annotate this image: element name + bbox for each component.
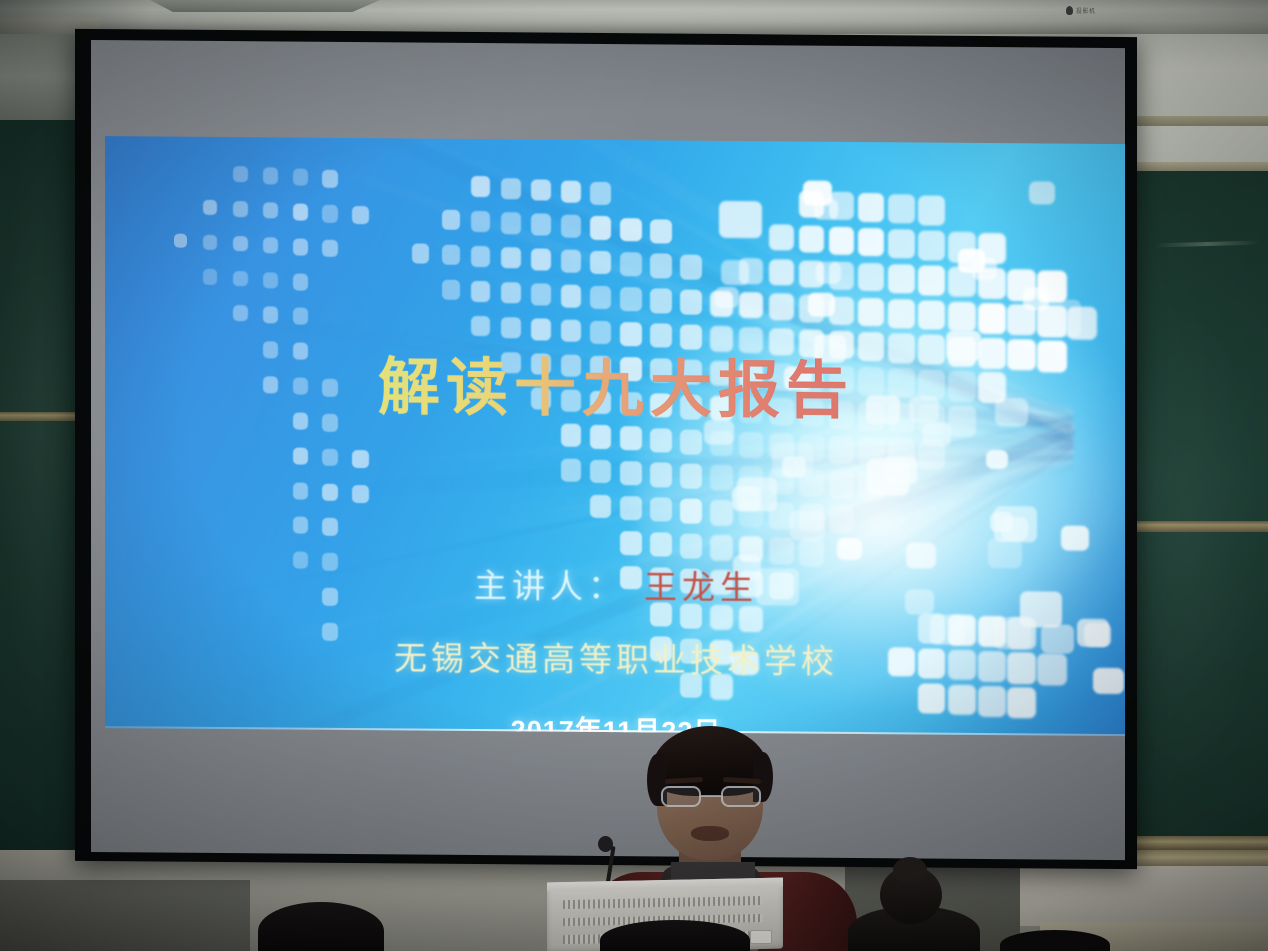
chalkboard-right bbox=[1135, 171, 1268, 851]
chalk-ledge-left bbox=[0, 412, 80, 421]
lower-wall-trim bbox=[1115, 850, 1268, 866]
audience-hair-bun bbox=[893, 857, 927, 883]
lecture-hall-scene: 投影机 解读十九大报告 主讲人：王龙生 bbox=[0, 0, 1268, 951]
lower-wall-left-shadow bbox=[0, 880, 250, 951]
chalk-ledge-right-lower bbox=[1135, 836, 1268, 850]
slide-speaker-label: 主讲人： bbox=[474, 569, 626, 606]
glasses-lens-left bbox=[661, 786, 701, 807]
chalkboard-left bbox=[0, 120, 80, 880]
ceiling-label-text: 投影机 bbox=[1076, 6, 1096, 15]
slide-speaker-name: 王龙生 bbox=[644, 570, 758, 607]
glasses-icon bbox=[661, 786, 761, 807]
glasses-lens-right bbox=[721, 786, 761, 807]
slide-title: 解读十九大报告 bbox=[105, 334, 1125, 432]
slide-organization: 无锡交通高等职业技术学校 bbox=[105, 629, 1125, 685]
lectern-control-button[interactable] bbox=[750, 930, 772, 944]
chalk-ledge-right-upper bbox=[1135, 521, 1268, 532]
device-icon bbox=[1066, 6, 1073, 15]
ceiling-device-label: 投影机 bbox=[1066, 4, 1128, 16]
wall-trim-lower bbox=[1135, 162, 1268, 171]
lower-wall-panel-right bbox=[1015, 866, 1268, 926]
presentation-slide: 解读十九大报告 主讲人：王龙生 无锡交通高等职业技术学校 2017年11月22日 bbox=[105, 136, 1125, 736]
slide-text-block: 解读十九大报告 主讲人：王龙生 无锡交通高等职业技术学校 2017年11月22日 bbox=[105, 136, 1125, 736]
slide-speaker-line: 主讲人：王龙生 bbox=[105, 556, 1125, 612]
wall-trim-upper bbox=[1135, 116, 1268, 126]
presenter-mouth bbox=[691, 826, 729, 841]
audience-silhouette-left bbox=[258, 902, 384, 951]
wall-band bbox=[1135, 126, 1268, 162]
glasses-bridge bbox=[701, 795, 721, 797]
lectern-vent-row bbox=[563, 896, 763, 909]
